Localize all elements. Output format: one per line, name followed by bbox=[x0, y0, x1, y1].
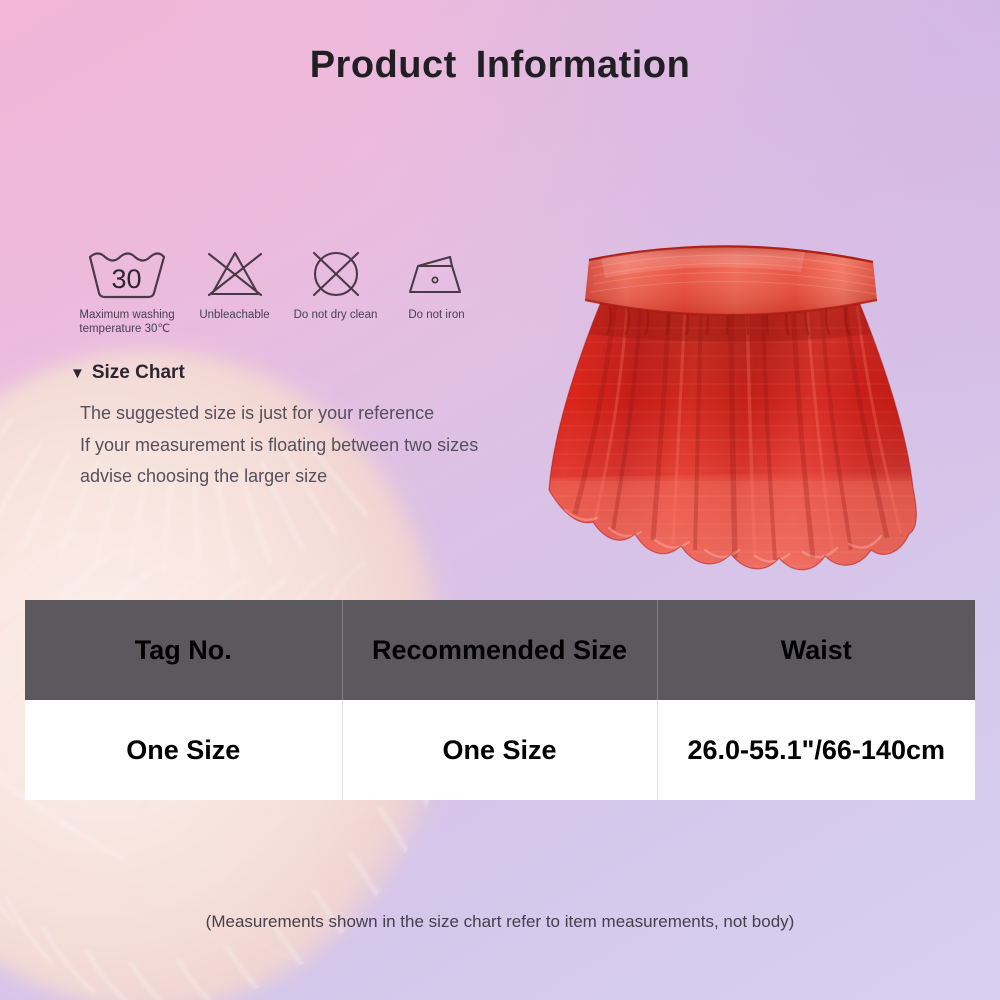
care-item-bleach: Unbleachable bbox=[184, 246, 285, 322]
table-header-waist: Waist bbox=[657, 600, 975, 700]
svg-text:30: 30 bbox=[111, 264, 141, 294]
care-label-dry-clean: Do not dry clean bbox=[294, 308, 378, 322]
care-item-dry-clean: Do not dry clean bbox=[285, 246, 386, 322]
table-header-row: Tag No. Recommended Size Waist bbox=[25, 600, 975, 700]
wash-tub-30-icon: 30 bbox=[83, 246, 171, 302]
measurements-footnote: (Measurements shown in the size chart re… bbox=[0, 912, 1000, 932]
care-label-iron: Do not iron bbox=[408, 308, 464, 322]
caret-down-icon: ▼ bbox=[70, 366, 85, 381]
do-not-dry-clean-icon bbox=[306, 246, 366, 302]
size-chart-heading: ▼ Size Chart bbox=[70, 362, 185, 384]
care-label-wash: Maximum washing temperature 30℃ bbox=[79, 308, 174, 337]
care-item-wash: 30 Maximum washing temperature 30℃ bbox=[70, 246, 184, 337]
table-cell-tag-no: One Size bbox=[25, 700, 342, 800]
size-chart-note: advise choosing the larger size bbox=[80, 461, 478, 493]
table-row: One Size One Size 26.0-55.1"/66-140cm bbox=[25, 700, 975, 800]
do-not-iron-icon bbox=[406, 246, 468, 302]
product-image-red-mesh-mini-skirt bbox=[505, 238, 955, 600]
table-cell-recommended-size: One Size bbox=[342, 700, 657, 800]
size-chart-heading-label: Size Chart bbox=[92, 362, 185, 384]
table-header-tag-no: Tag No. bbox=[25, 600, 342, 700]
size-chart-notes: The suggested size is just for your refe… bbox=[80, 398, 478, 493]
size-chart-note: The suggested size is just for your refe… bbox=[80, 398, 478, 430]
care-item-iron: Do not iron bbox=[386, 246, 487, 322]
product-information-page: Product Information 30 Maximum washing t… bbox=[0, 0, 1000, 1000]
table-header-recommended-size: Recommended Size bbox=[342, 600, 657, 700]
do-not-bleach-icon bbox=[203, 246, 267, 302]
care-label-bleach: Unbleachable bbox=[199, 308, 269, 322]
page-title: Product Information bbox=[0, 44, 1000, 87]
care-symbols-row: 30 Maximum washing temperature 30℃ Unble… bbox=[70, 246, 487, 337]
table-cell-waist: 26.0-55.1"/66-140cm bbox=[657, 700, 975, 800]
size-chart-note: If your measurement is floating between … bbox=[80, 430, 478, 462]
background-gradient-sheen bbox=[0, 0, 1000, 1000]
size-chart-table: Tag No. Recommended Size Waist One Size … bbox=[25, 600, 975, 800]
